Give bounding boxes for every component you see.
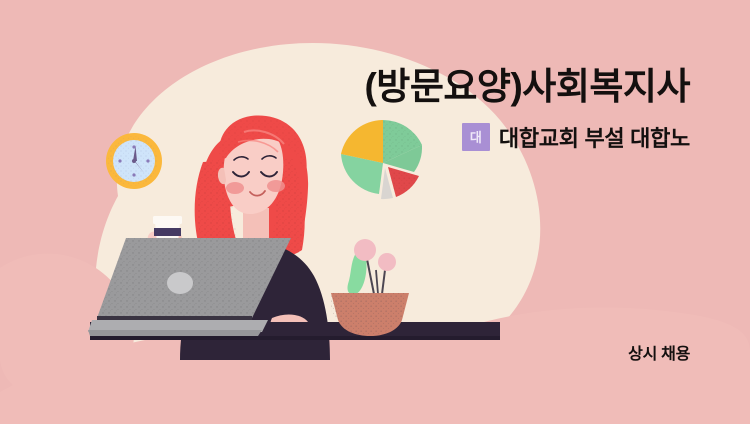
job-posting-poster: (방문요양)사회복지사 대 대합교회 부설 대합노 상시 채용 — [0, 0, 750, 424]
desk-surface — [90, 322, 500, 336]
clock-face-texture — [108, 136, 160, 188]
hand-left — [147, 232, 177, 264]
job-text-block: (방문요양)사회복지사 대 대합교회 부설 대합노 — [230, 66, 690, 153]
eyebrow-right — [262, 156, 276, 159]
eye-right-closed — [261, 172, 277, 177]
job-title: (방문요양)사회복지사 — [230, 66, 690, 109]
clock-hand-minute — [134, 160, 146, 174]
plant-stem-2 — [382, 262, 386, 294]
arm-right — [247, 262, 322, 336]
wall-clock — [106, 133, 162, 189]
cup-band-lower — [157, 250, 178, 259]
clock-dot-3 — [146, 159, 149, 162]
eyebrow-left — [234, 157, 248, 160]
clock-center-pin — [132, 159, 136, 163]
hair-strand-left — [195, 160, 238, 253]
plant-pot — [331, 293, 409, 336]
clock-face — [113, 140, 155, 182]
cream-blob-lower — [60, 254, 333, 424]
pie-slice-red-texture — [388, 167, 419, 197]
desk-front-light — [90, 336, 500, 340]
laptop-logo — [167, 272, 193, 294]
laptop-base — [88, 320, 268, 332]
plant-flower-2 — [378, 253, 396, 271]
potted-plant — [328, 239, 412, 340]
pie-slice-green-left — [341, 154, 383, 194]
clock-dot-6 — [132, 173, 135, 176]
pink-blob-right — [396, 308, 750, 424]
sweater-body — [180, 244, 330, 360]
laptop-base-edge — [88, 330, 262, 336]
ear — [218, 168, 226, 184]
hiring-status-label: 상시 채용 — [628, 340, 690, 364]
company-badge: 대 — [462, 123, 490, 151]
mouth-smile — [250, 191, 265, 196]
arm-left — [193, 258, 226, 316]
laptop-lid — [97, 238, 291, 318]
hand-right — [270, 315, 310, 338]
plant-flower-1 — [354, 239, 376, 261]
cheek-left — [226, 182, 244, 194]
neck — [243, 208, 269, 250]
pie-slice-gray — [381, 168, 393, 199]
clock-dot-9 — [118, 159, 121, 162]
eye-left-closed — [233, 172, 249, 177]
plant-pot-texture — [328, 292, 412, 340]
plant-stem-3 — [376, 270, 378, 294]
pink-blob-left — [0, 254, 134, 401]
company-row[interactable]: 대 대합교회 부설 대합노 — [230, 121, 690, 153]
thumb-left — [170, 229, 182, 248]
company-name: 대합교회 부설 대합노 — [499, 121, 690, 153]
clock-hand-hour — [133, 146, 137, 161]
cup-lid — [153, 216, 182, 224]
plant-leaf — [347, 249, 366, 295]
hair-strand-right — [269, 156, 305, 254]
cheek-right — [267, 180, 285, 192]
laptop-hinge — [97, 316, 252, 321]
laptop — [88, 236, 300, 336]
cup-body — [155, 222, 180, 264]
plant-stem-1 — [366, 254, 374, 294]
coffee-cup — [153, 216, 182, 264]
sweater-collar — [240, 238, 272, 260]
laptop-lid-texture — [90, 236, 300, 322]
clock-ring — [106, 133, 162, 189]
pie-slice-red — [388, 167, 419, 197]
cup-band-upper — [154, 228, 181, 236]
clock-dot-12 — [132, 145, 135, 148]
